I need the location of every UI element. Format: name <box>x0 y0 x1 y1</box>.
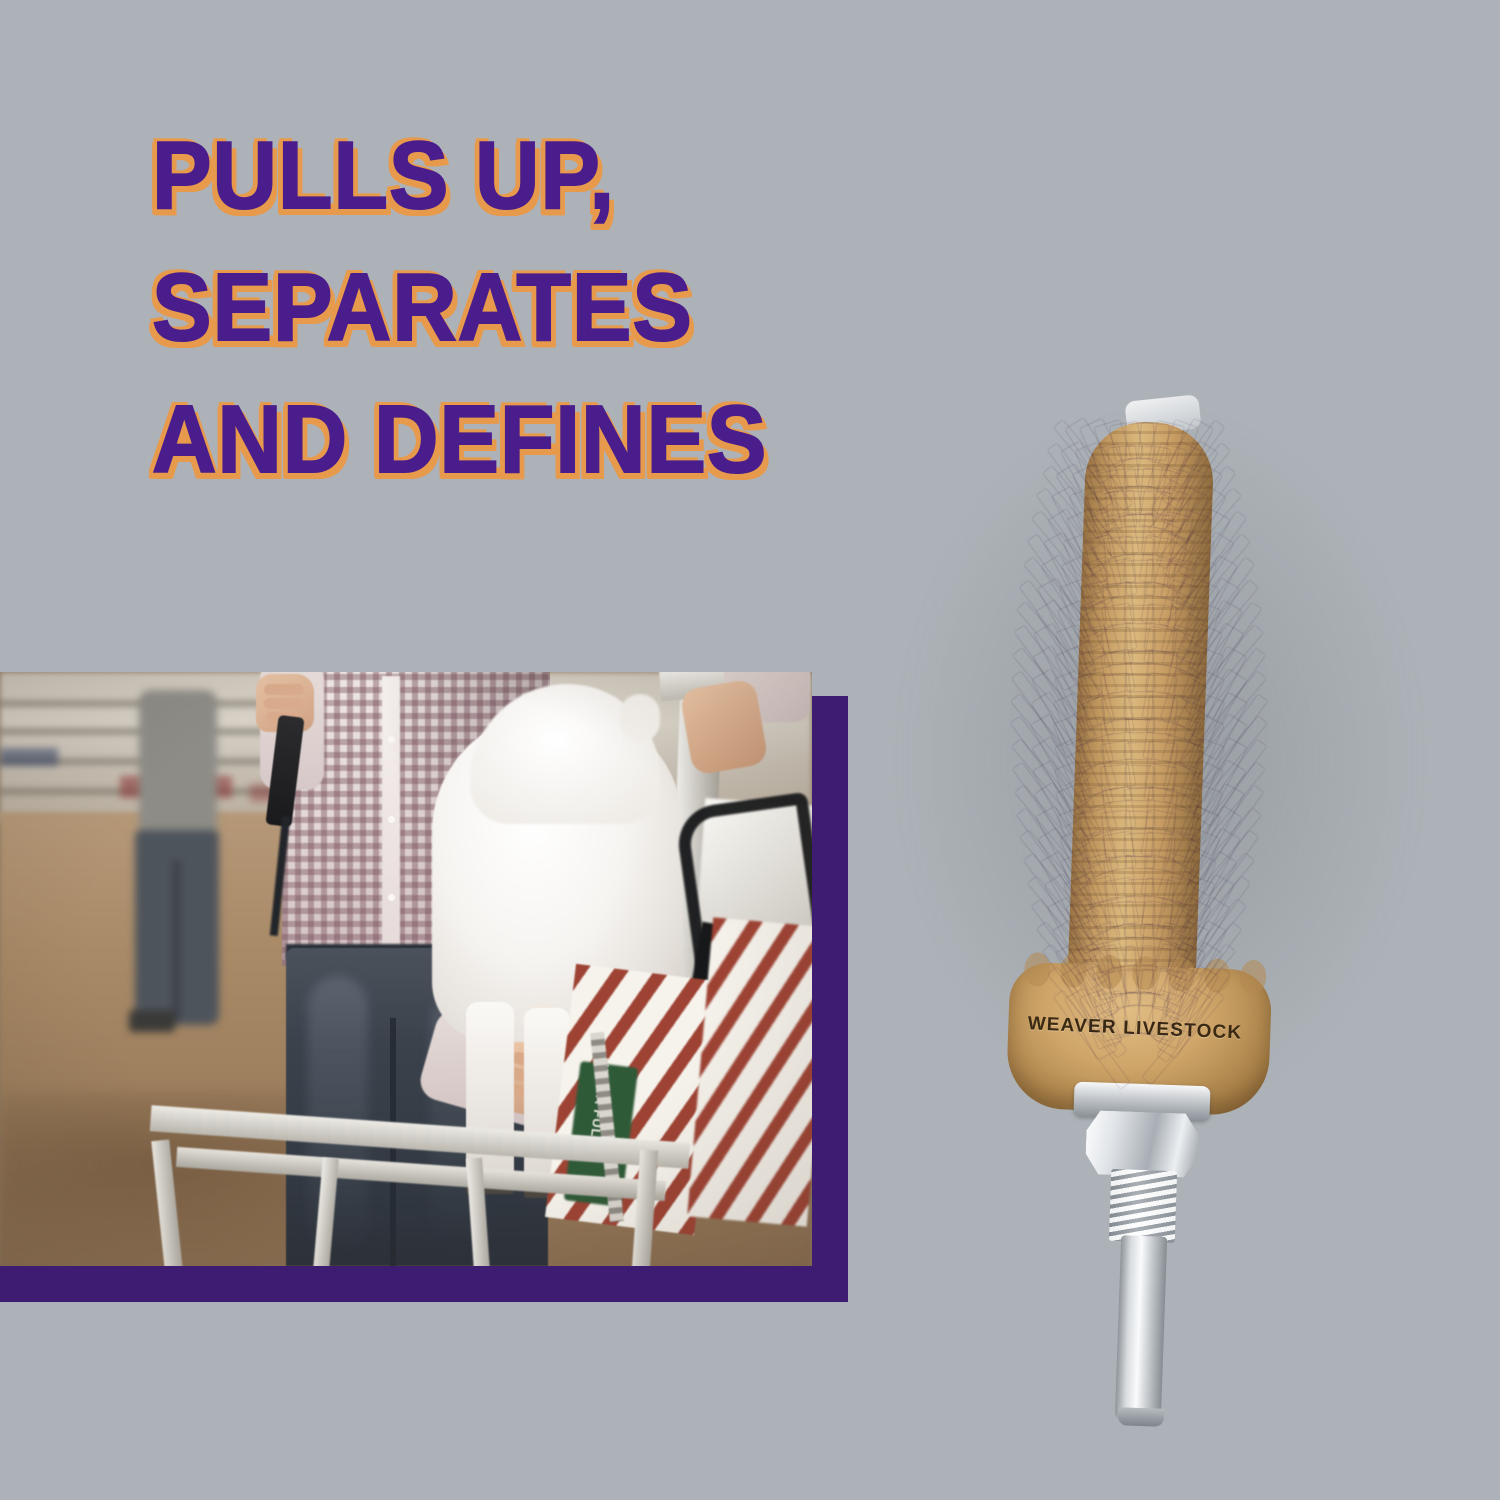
hex-nut <box>1085 1110 1199 1178</box>
drill-shank <box>1115 1235 1167 1421</box>
headline-block: PULLS UP, SEPARATES AND DEFINES <box>152 128 912 488</box>
lifestyle-photo: ULTRA FULL <box>0 672 812 1266</box>
headline-line-2: SEPARATES <box>152 260 859 356</box>
headline-line-3: AND DEFINES <box>152 392 859 488</box>
marketing-image-canvas: PULLS UP, SEPARATES AND DEFINES <box>0 0 1500 1500</box>
bristle-tuft <box>1110 993 1140 1036</box>
photo-vignette <box>0 672 812 1266</box>
brush-bristles <box>860 370 1460 1170</box>
lifestyle-photo-block: ULTRA FULL <box>0 672 850 1302</box>
threaded-stem <box>1109 1169 1177 1243</box>
drill-shank-tip <box>1118 1407 1165 1427</box>
product-brush: WEAVER LIVESTOCK <box>860 370 1460 1450</box>
headline-line-1: PULLS UP, <box>152 128 859 224</box>
